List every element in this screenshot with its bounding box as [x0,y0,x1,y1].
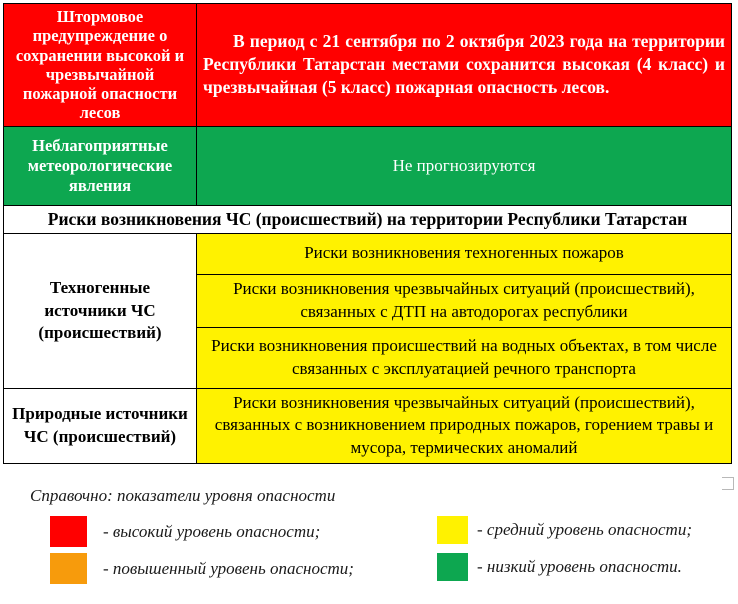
storm-warning-text: В период с 21 сентября по 2 октября 2023… [197,4,732,127]
table-row-storm-warning: Штормовое предупреждение о сохранении вы… [4,4,732,127]
risk-item: Риски возникновения чрезвычайных ситуаци… [197,388,732,463]
risk-item: Риски возникновения происшествий на водн… [197,327,732,388]
adverse-weather-text: Не прогнозируются [197,126,732,205]
legend-label-low: - низкий уровень опасности. [477,557,682,577]
risk-item: Риски возникновения техногенных пожаров [197,233,732,274]
natural-sources-label: Природные источники ЧС (происшествий) [4,388,197,463]
legend-label-high: - высокий уровень опасности; [103,522,320,542]
table-row-technogenic-risk-1: Техногенные источники ЧС (происшествий) … [4,233,732,274]
legend-label-elevated: - повышенный уровень опасности; [103,559,354,579]
swatch-medium-danger-icon [437,516,468,544]
risk-item: Риски возникновения чрезвычайных ситуаци… [197,274,732,327]
swatch-low-danger-icon [437,553,468,581]
section-title: Риски возникновения ЧС (происшествий) на… [4,205,732,233]
legend-item-elevated: - повышенный уровень опасности; [50,553,354,584]
technogenic-sources-label: Техногенные источники ЧС (происшествий) [4,233,197,388]
table-row-natural-risk-1: Природные источники ЧС (происшествий) Ри… [4,388,732,463]
legend-item-high: - высокий уровень опасности; [50,516,320,547]
legend-item-low: - низкий уровень опасности. [437,553,682,581]
table-row-section-title: Риски возникновения ЧС (происшествий) на… [4,205,732,233]
selection-handle-artifact [722,477,734,490]
table-row-adverse-weather: Неблагоприятные метеорологические явлени… [4,126,732,205]
legend-label-medium: - средний уровень опасности; [477,520,692,540]
swatch-high-danger-icon [50,516,87,547]
legend-title: Справочно: показатели уровня опасности [30,486,335,506]
storm-warning-label: Штормовое предупреждение о сохранении вы… [4,4,197,127]
emergency-forecast-table: Штормовое предупреждение о сохранении вы… [3,3,732,464]
legend-item-medium: - средний уровень опасности; [437,516,692,544]
swatch-elevated-danger-icon [50,553,87,584]
adverse-weather-label: Неблагоприятные метеорологические явлени… [4,126,197,205]
